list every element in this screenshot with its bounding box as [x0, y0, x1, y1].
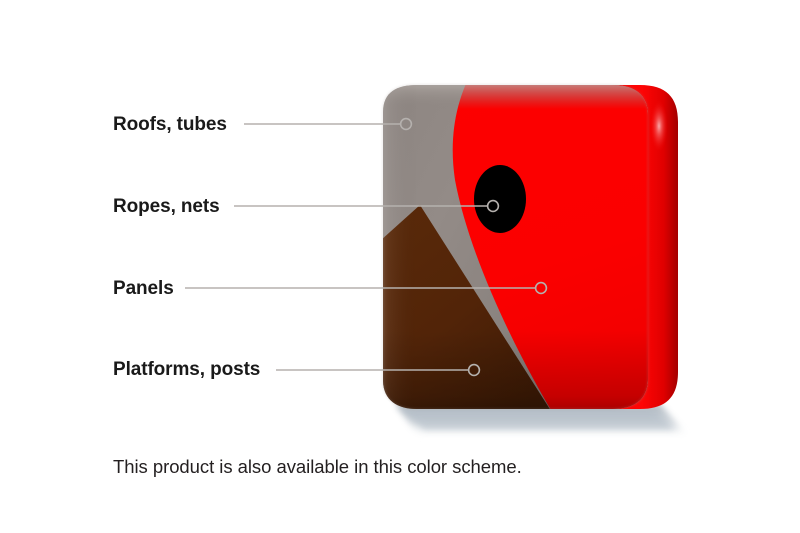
callout-label-roofs-tubes[interactable]: Roofs, tubes [113, 115, 227, 134]
color-region-black [474, 165, 526, 233]
product-illustration [0, 0, 800, 533]
callout-label-ropes-nets[interactable]: Ropes, nets [113, 197, 220, 216]
figure-caption: This product is also available in this c… [113, 455, 522, 479]
callout-label-platforms-posts[interactable]: Platforms, posts [113, 360, 260, 379]
callout-label-panels[interactable]: Panels [113, 279, 174, 298]
figure-canvas: Roofs, tubes Ropes, nets Panels Platform… [0, 0, 800, 533]
product-front-face [370, 75, 670, 425]
